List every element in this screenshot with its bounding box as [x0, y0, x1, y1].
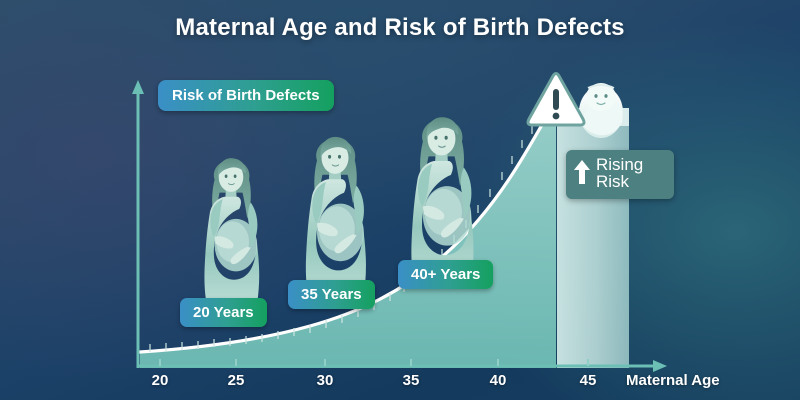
x-axis-title: Maternal Age: [626, 372, 720, 389]
pregnant-figure-age-35: [306, 137, 366, 299]
rising-risk-callout: Rising Risk: [566, 150, 674, 199]
xtick-label-45: 45: [580, 372, 597, 389]
infographic-canvas: Maternal Age and Risk of Birth Defects: [0, 0, 800, 400]
up-arrow-icon: [574, 160, 590, 184]
warning-triangle-icon: [528, 74, 584, 126]
pregnant-figure-age-20: [204, 158, 259, 306]
age-badge-20: 20 Years: [180, 298, 267, 327]
xtick-label-35: 35: [403, 372, 420, 389]
age-badge-40: 40+ Years: [398, 260, 493, 289]
age-badge-35: 35 Years: [288, 280, 375, 309]
chart-plot: [0, 0, 800, 400]
rising-risk-line1: Rising: [596, 156, 643, 173]
xtick-label-25: 25: [228, 372, 245, 389]
rising-risk-line2: Risk: [596, 173, 643, 190]
xtick-label-20: 20: [152, 372, 169, 389]
risk-pillar: [557, 108, 629, 368]
xtick-label-30: 30: [317, 372, 334, 389]
legend-badge: Risk of Birth Defects: [158, 80, 334, 111]
swaddled-baby-icon: [579, 83, 623, 138]
xtick-label-40: 40: [490, 372, 507, 389]
